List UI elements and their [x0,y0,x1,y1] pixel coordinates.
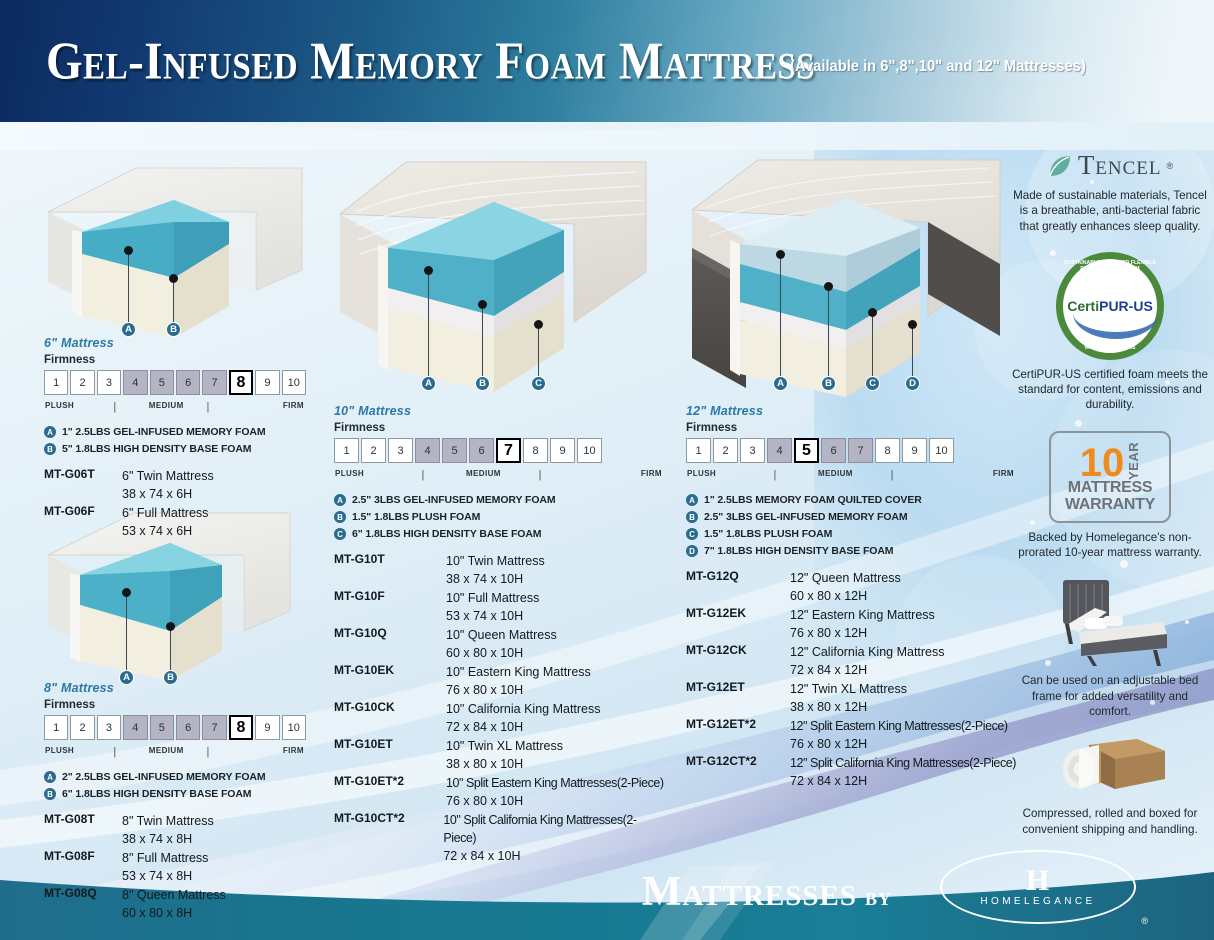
sku-description: 10" Split Eastern King Mattresses(2-Piec… [446,776,664,790]
layer-text: 1.5" 1.8LBS PLUSH FOAM [704,528,832,540]
sku-dimensions: 76 x 80 x 10H [446,794,523,808]
sku-detail: 10" Twin XL Mattress38 x 80 x 10H [446,737,563,773]
page-title: Gel-Infused Memory Foam Mattress [46,32,815,92]
firmness-cell-eight-10[interactable]: 10 [282,715,306,740]
layer-text: 7" 1.8LBS HIGH DENSITY BASE FOAM [704,545,893,557]
firmness-cell-eight-4[interactable]: 4 [123,715,147,740]
sku-dimensions: 60 x 80 x 12H [790,589,867,603]
sku-code: MT-G12CT*2 [686,754,790,768]
footer-brand: Mattressesby [642,868,892,916]
page-footer: Mattressesby H HOMELEGANCE ® [0,844,1214,940]
firmness-cell-twelve-5[interactable]: 5 [794,438,819,463]
firmness-cell-six-7[interactable]: 7 [202,370,226,395]
firmness-cell-ten-10[interactable]: 10 [577,438,602,463]
scale-label-medium: MEDIUM [149,746,184,755]
firmness-label-six: Firmness [44,354,306,366]
warranty-top-row: 10 YEAR [1080,440,1141,480]
tencel-description: Made of sustainable materials, Tencel is… [1010,188,1210,234]
homelegance-wordmark: HOMELEGANCE [980,896,1095,907]
boxed-shipping-block: Compressed, rolled and boxed for conveni… [1010,733,1210,837]
table-row: MT-G12ET*212" Split Eastern King Mattres… [686,717,1016,753]
layer-badge-b: B [44,788,56,800]
table-row: MT-G10ET*210" Split Eastern King Mattres… [334,774,664,810]
firmness-cell-twelve-9[interactable]: 9 [902,438,927,463]
homelegance-monogram: H [1026,867,1050,896]
marker-letter-b-10in: B [475,376,490,391]
table-row: MT-G06F6" Full Mattress53 x 74 x 6H [44,504,306,540]
scale-label-plush: PLUSH [45,746,74,755]
marker-letter-c-10in: C [531,376,546,391]
sku-code: MT-G06T [44,467,122,481]
sku-code: MT-G06F [44,504,122,518]
firmness-cell-eight-2[interactable]: 2 [70,715,94,740]
layer-badge-a: A [44,426,56,438]
sku-dimensions: 72 x 84 x 12H [790,774,867,788]
table-row: MT-G10F10" Full Mattress53 x 74 x 10H [334,589,664,625]
certipur-ring-bottom-text: WWW.CERTIPUR.US [1063,345,1157,351]
scale-label-plush: PLUSH [687,469,716,478]
layer-row: C6" 1.8LBS HIGH DENSITY BASE FOAM [334,528,664,540]
table-row: MT-G10CK10" California King Mattress72 x… [334,700,664,736]
firmness-cell-ten-2[interactable]: 2 [361,438,386,463]
layer-badge-a: A [334,494,346,506]
sku-dimensions: 72 x 84 x 10H [446,720,523,734]
layer-badge-a: A [44,771,56,783]
layer-row: A2" 2.5LBS GEL-INFUSED MEMORY FOAM [44,771,306,783]
marker-letter-a-6in: A [121,322,136,337]
firmness-cell-eight-3[interactable]: 3 [97,715,121,740]
certipur-badge: SUSTAINABLE CERTIFIED FLEXIBLE POLYURETH… [1056,252,1164,360]
certipur-purus: PUR-US [1099,298,1153,314]
firmness-cell-twelve-8[interactable]: 8 [875,438,900,463]
sku-detail: 6" Full Mattress53 x 74 x 6H [122,504,208,540]
layer-badge-c: C [686,528,698,540]
scale-label-firm: FIRM [283,401,304,410]
sku-detail: 10" Queen Mattress60 x 80 x 10H [446,626,557,662]
sku-list-twelve: MT-G12Q12" Queen Mattress60 x 80 x 12HMT… [686,569,1016,790]
firmness-cell-ten-7[interactable]: 7 [496,438,521,463]
layer-row: A1" 2.5LBS MEMORY FOAM QUILTED COVER [686,494,1016,506]
sku-code: MT-G12EK [686,606,790,620]
tencel-block: Tencel ® Made of sustainable materials, … [1010,150,1210,234]
sku-description: 6" Twin Mattress [122,469,214,483]
scale-tick-2: | [206,401,209,413]
table-row: MT-G12Q12" Queen Mattress60 x 80 x 12H [686,569,1016,605]
scale-labels-twelve: PLUSH|MEDIUM|FIRM [686,466,1016,482]
sku-detail: 10" Full Mattress53 x 74 x 10H [446,589,539,625]
firmness-cell-twelve-2[interactable]: 2 [713,438,738,463]
marker-letter-a-10in: A [421,376,436,391]
firmness-cell-twelve-4[interactable]: 4 [767,438,792,463]
sku-code: MT-G10CT*2 [334,811,443,825]
warranty-block: 10 YEAR MATTRESS WARRANTY Backed by Home… [1010,431,1210,561]
layer-badge-c: C [334,528,346,540]
sku-description: 12" Split California King Mattresses(2-P… [790,756,1016,770]
spec-block-12in: 12" MattressFirmness12345678910PLUSH|MED… [686,404,1016,791]
firmness-cell-six-1[interactable]: 1 [44,370,68,395]
sku-dimensions: 38 x 80 x 12H [790,700,867,714]
firmness-cell-eight-8[interactable]: 8 [229,715,253,740]
scale-tick-1: | [113,746,116,758]
footer-brand-word: Mattresses [642,869,857,915]
table-row: MT-G12EK12" Eastern King Mattress76 x 80… [686,606,1016,642]
sku-code: MT-G12ET*2 [686,717,790,731]
marker-letter-d-12in: D [905,376,920,391]
layer-text: 6" 1.8LBS HIGH DENSITY BASE FOAM [352,528,541,540]
sku-dimensions: 72 x 84 x 12H [790,663,867,677]
layer-row: D7" 1.8LBS HIGH DENSITY BASE FOAM [686,545,1016,557]
firmness-label-ten: Firmness [334,422,664,434]
firmness-cell-six-8[interactable]: 8 [229,370,253,395]
certipur-wordmark: CertiPUR-US [1067,298,1153,314]
warranty-year-label: YEAR [1127,440,1140,480]
firmness-cell-six-10[interactable]: 10 [282,370,306,395]
sku-detail: 12" Queen Mattress60 x 80 x 12H [790,569,901,605]
sku-description: 10" Full Mattress [446,591,539,605]
sku-code: MT-G10ET [334,737,446,751]
firmness-cell-twelve-6[interactable]: 6 [821,438,846,463]
sku-description: 10" Queen Mattress [446,628,557,642]
layer-badge-b: B [44,443,56,455]
tencel-wordmark: Tencel [1078,150,1162,181]
sku-description: 12" Eastern King Mattress [790,608,935,622]
table-row: MT-G08T8" Twin Mattress38 x 74 x 8H [44,812,306,848]
scale-label-medium: MEDIUM [818,469,853,478]
homelegance-logo: H HOMELEGANCE [940,850,1136,924]
firmness-label-eight: Firmness [44,699,306,711]
footer-by-word: by [865,882,892,911]
mattress-image-6in [44,160,306,335]
layer-row: C1.5" 1.8LBS PLUSH FOAM [686,528,1016,540]
firmness-cell-six-3[interactable]: 3 [97,370,121,395]
sku-description: 12" Queen Mattress [790,571,901,585]
layer-list-twelve: A1" 2.5LBS MEMORY FOAM QUILTED COVERB2.5… [686,494,1016,557]
sku-detail: 10" Twin Mattress38 x 74 x 10H [446,552,545,588]
firmness-cell-ten-8[interactable]: 8 [523,438,548,463]
firmness-scale-eight[interactable]: 12345678910 [44,715,306,740]
firmness-scale-six[interactable]: 12345678910 [44,370,306,395]
warranty-line-2: WARRANTY [1065,497,1155,513]
firmness-cell-six-2[interactable]: 2 [70,370,94,395]
layer-row: B1.5" 1.8LBS PLUSH FOAM [334,511,664,523]
table-row: MT-G12CT*212" Split California King Matt… [686,754,1016,790]
layer-list-ten: A2.5" 3LBS GEL-INFUSED MEMORY FOAMB1.5" … [334,494,664,540]
firmness-scale-ten[interactable]: 12345678910 [334,438,664,463]
layer-row: A1" 2.5LBS GEL-INFUSED MEMORY FOAM [44,426,306,438]
layer-row: A2.5" 3LBS GEL-INFUSED MEMORY FOAM [334,494,664,506]
boxed-shipping-description: Compressed, rolled and boxed for conveni… [1010,806,1210,837]
header-subtitle: (Available in 6",8",10" and 12" Mattress… [790,58,1086,76]
spec-block-10in: 10" MattressFirmness12345678910PLUSH|MED… [334,404,664,866]
sku-detail: 12" Eastern King Mattress76 x 80 x 12H [790,606,935,642]
sku-dimensions: 76 x 80 x 12H [790,737,867,751]
layer-text: 2.5" 3LBS GEL-INFUSED MEMORY FOAM [352,494,556,506]
layer-list-eight: A2" 2.5LBS GEL-INFUSED MEMORY FOAMB6" 1.… [44,771,306,800]
firmness-cell-six-6[interactable]: 6 [176,370,200,395]
sku-dimensions: 53 x 74 x 6H [122,524,192,538]
scale-label-medium: MEDIUM [466,469,501,478]
scale-tick-2: | [539,469,542,481]
table-row: MT-G12ET12" Twin XL Mattress38 x 80 x 12… [686,680,1016,716]
certipur-certi: Certi [1067,298,1099,314]
sku-list-six: MT-G06T6" Twin Mattress38 x 74 x 6HMT-G0… [44,467,306,540]
sku-code: MT-G12CK [686,643,790,657]
sku-description: 10" Split California King Mattresses(2-P… [443,813,636,845]
table-row: MT-G12CK12" California King Mattress72 x… [686,643,1016,679]
firmness-cell-ten-5[interactable]: 5 [442,438,467,463]
tencel-registered: ® [1167,161,1174,171]
sku-detail: 6" Twin Mattress38 x 74 x 6H [122,467,214,503]
sku-code: MT-G10T [334,552,446,566]
sku-dimensions: 53 x 74 x 10H [446,609,523,623]
sku-code: MT-G12ET [686,680,790,694]
warranty-description: Backed by Homelegance's non-prorated 10-… [1010,530,1210,561]
layer-badge-b: B [334,511,346,523]
sku-detail: 10" Eastern King Mattress76 x 80 x 10H [446,663,591,699]
sku-code: MT-G08T [44,812,122,826]
leaf-icon [1047,153,1073,179]
table-row: MT-G10EK10" Eastern King Mattress76 x 80… [334,663,664,699]
firmness-scale-twelve[interactable]: 12345678910 [686,438,1016,463]
firmness-cell-ten-9[interactable]: 9 [550,438,575,463]
scale-tick-2: | [206,746,209,758]
layer-badge-b: B [686,511,698,523]
spec-title-ten: 10" Mattress [334,404,664,418]
sku-description: 10" Eastern King Mattress [446,665,591,679]
layer-row: B2.5" 3LBS GEL-INFUSED MEMORY FOAM [686,511,1016,523]
firmness-cell-twelve-3[interactable]: 3 [740,438,765,463]
warranty-years-number: 10 [1080,446,1125,480]
firmness-cell-eight-5[interactable]: 5 [150,715,174,740]
layer-text: 6" 1.8LBS HIGH DENSITY BASE FOAM [62,788,251,800]
sku-list-ten: MT-G10T10" Twin Mattress38 x 74 x 10HMT-… [334,552,664,865]
firmness-cell-twelve-1[interactable]: 1 [686,438,711,463]
firmness-cell-twelve-10[interactable]: 10 [929,438,954,463]
sku-description: 10" California King Mattress [446,702,601,716]
adjustable-bed-block: Can be used on an adjustable bed frame f… [1010,574,1210,719]
layer-list-six: A1" 2.5LBS GEL-INFUSED MEMORY FOAMB5" 1.… [44,426,306,455]
layer-row: B6" 1.8LBS HIGH DENSITY BASE FOAM [44,788,306,800]
marker-letter-b-6in: B [166,322,181,337]
firmness-cell-eight-7[interactable]: 7 [202,715,226,740]
sku-description: 6" Full Mattress [122,506,208,520]
layer-badge-a: A [686,494,698,506]
warranty-line-1: MATTRESS [1068,480,1152,496]
layer-row: B5" 1.8LBS HIGH DENSITY BASE FOAM [44,443,306,455]
scale-labels-eight: PLUSH|MEDIUM|FIRM [44,743,306,759]
certipur-block: SUSTAINABLE CERTIFIED FLEXIBLE POLYURETH… [1010,252,1210,413]
table-row: MT-G10T10" Twin Mattress38 x 74 x 10H [334,552,664,588]
sku-detail: 12" Split Eastern King Mattresses(2-Piec… [790,717,1008,753]
spec-title-eight: 8" Mattress [44,681,306,695]
firmness-label-twelve: Firmness [686,422,1016,434]
firmness-cell-eight-6[interactable]: 6 [176,715,200,740]
adjustable-bed-description: Can be used on an adjustable bed frame f… [1010,673,1210,719]
firmness-cell-ten-3[interactable]: 3 [388,438,413,463]
sku-detail: 10" California King Mattress72 x 84 x 10… [446,700,601,736]
sku-description: 10" Twin Mattress [446,554,545,568]
sku-dimensions: 38 x 80 x 10H [446,757,523,771]
layer-text: 2" 2.5LBS GEL-INFUSED MEMORY FOAM [62,771,266,783]
warranty-badge: 10 YEAR MATTRESS WARRANTY [1049,431,1171,523]
sku-detail: 12" California King Mattress72 x 84 x 12… [790,643,945,679]
layer-text: 2.5" 3LBS GEL-INFUSED MEMORY FOAM [704,511,908,523]
page-header: Gel-Infused Memory Foam Mattress (Availa… [0,0,1214,122]
sku-dimensions: 38 x 74 x 10H [446,572,523,586]
sku-detail: 12" Twin XL Mattress38 x 80 x 12H [790,680,907,716]
sku-code: MT-G10F [334,589,446,603]
sku-detail: 10" Split Eastern King Mattresses(2-Piec… [446,774,664,810]
layer-text: 1" 2.5LBS GEL-INFUSED MEMORY FOAM [62,426,266,438]
table-row: MT-G06T6" Twin Mattress38 x 74 x 6H [44,467,306,503]
layer-badge-d: D [686,545,698,557]
mattress-image-12in [688,152,1008,397]
scale-tick-1: | [113,401,116,413]
scale-label-plush: PLUSH [335,469,364,478]
sku-code: MT-G10CK [334,700,446,714]
scale-label-medium: MEDIUM [149,401,184,410]
sku-dimensions: 60 x 80 x 10H [446,646,523,660]
sku-description: 12" California King Mattress [790,645,945,659]
sku-detail: 12" Split California King Mattresses(2-P… [790,754,1016,790]
firmness-cell-ten-1[interactable]: 1 [334,438,359,463]
sku-detail: 8" Twin Mattress38 x 74 x 8H [122,812,214,848]
table-row: MT-G10ET10" Twin XL Mattress38 x 80 x 10… [334,737,664,773]
sku-code: MT-G12Q [686,569,790,583]
scale-tick-1: | [773,469,776,481]
logo-registered-mark: ® [1141,916,1148,926]
scale-label-firm: FIRM [283,746,304,755]
layer-text: 5" 1.8LBS HIGH DENSITY BASE FOAM [62,443,251,455]
sku-code: MT-G10ET*2 [334,774,446,788]
certipur-ring-top-text: SUSTAINABLE CERTIFIED FLEXIBLE POLYURETH… [1063,260,1157,272]
sku-description: 10" Twin XL Mattress [446,739,563,753]
firmness-cell-six-5[interactable]: 5 [150,370,174,395]
firmness-cell-six-4[interactable]: 4 [123,370,147,395]
sku-dimensions: 38 x 74 x 6H [122,487,192,501]
firmness-cell-eight-9[interactable]: 9 [255,715,279,740]
product-spec-sheet: Gel-Infused Memory Foam Mattress (Availa… [0,0,1214,940]
spec-title-six: 6" Mattress [44,336,306,350]
sku-code: MT-G10EK [334,663,446,677]
firmness-cell-eight-1[interactable]: 1 [44,715,68,740]
layer-text: 1" 2.5LBS MEMORY FOAM QUILTED COVER [704,494,922,506]
marker-letter-c-12in: C [865,376,880,391]
firmness-cell-six-9[interactable]: 9 [255,370,279,395]
sku-dimensions: 76 x 80 x 10H [446,683,523,697]
sku-dimensions: 76 x 80 x 12H [790,626,867,640]
boxed-mattress-image [1045,733,1175,799]
certipur-description: CertiPUR-US certified foam meets the sta… [1010,367,1210,413]
firmness-cell-ten-6[interactable]: 6 [469,438,494,463]
scale-tick-1: | [421,469,424,481]
scale-tick-2: | [891,469,894,481]
adjustable-bed-image [1035,574,1185,666]
spec-title-twelve: 12" Mattress [686,404,1016,418]
firmness-cell-twelve-7[interactable]: 7 [848,438,873,463]
scale-labels-six: PLUSH|MEDIUM|FIRM [44,398,306,414]
scale-labels-ten: PLUSH|MEDIUM|FIRM [334,466,664,482]
sku-code: MT-G10Q [334,626,446,640]
tencel-logo: Tencel ® [1010,150,1210,181]
sku-description: 12" Twin XL Mattress [790,682,907,696]
marker-letter-b-12in: B [821,376,836,391]
table-row: MT-G10Q10" Queen Mattress60 x 80 x 10H [334,626,664,662]
marker-letter-a-12in: A [773,376,788,391]
right-rail: Tencel ® Made of sustainable materials, … [1010,150,1210,851]
scale-label-firm: FIRM [641,469,662,478]
sku-description: 8" Twin Mattress [122,814,214,828]
firmness-cell-ten-4[interactable]: 4 [415,438,440,463]
spec-block-6in: 6" MattressFirmness12345678910PLUSH|MEDI… [44,336,306,541]
layer-text: 1.5" 1.8LBS PLUSH FOAM [352,511,480,523]
sku-description: 12" Split Eastern King Mattresses(2-Piec… [790,719,1008,733]
scale-label-plush: PLUSH [45,401,74,410]
mattress-image-10in [336,152,656,392]
